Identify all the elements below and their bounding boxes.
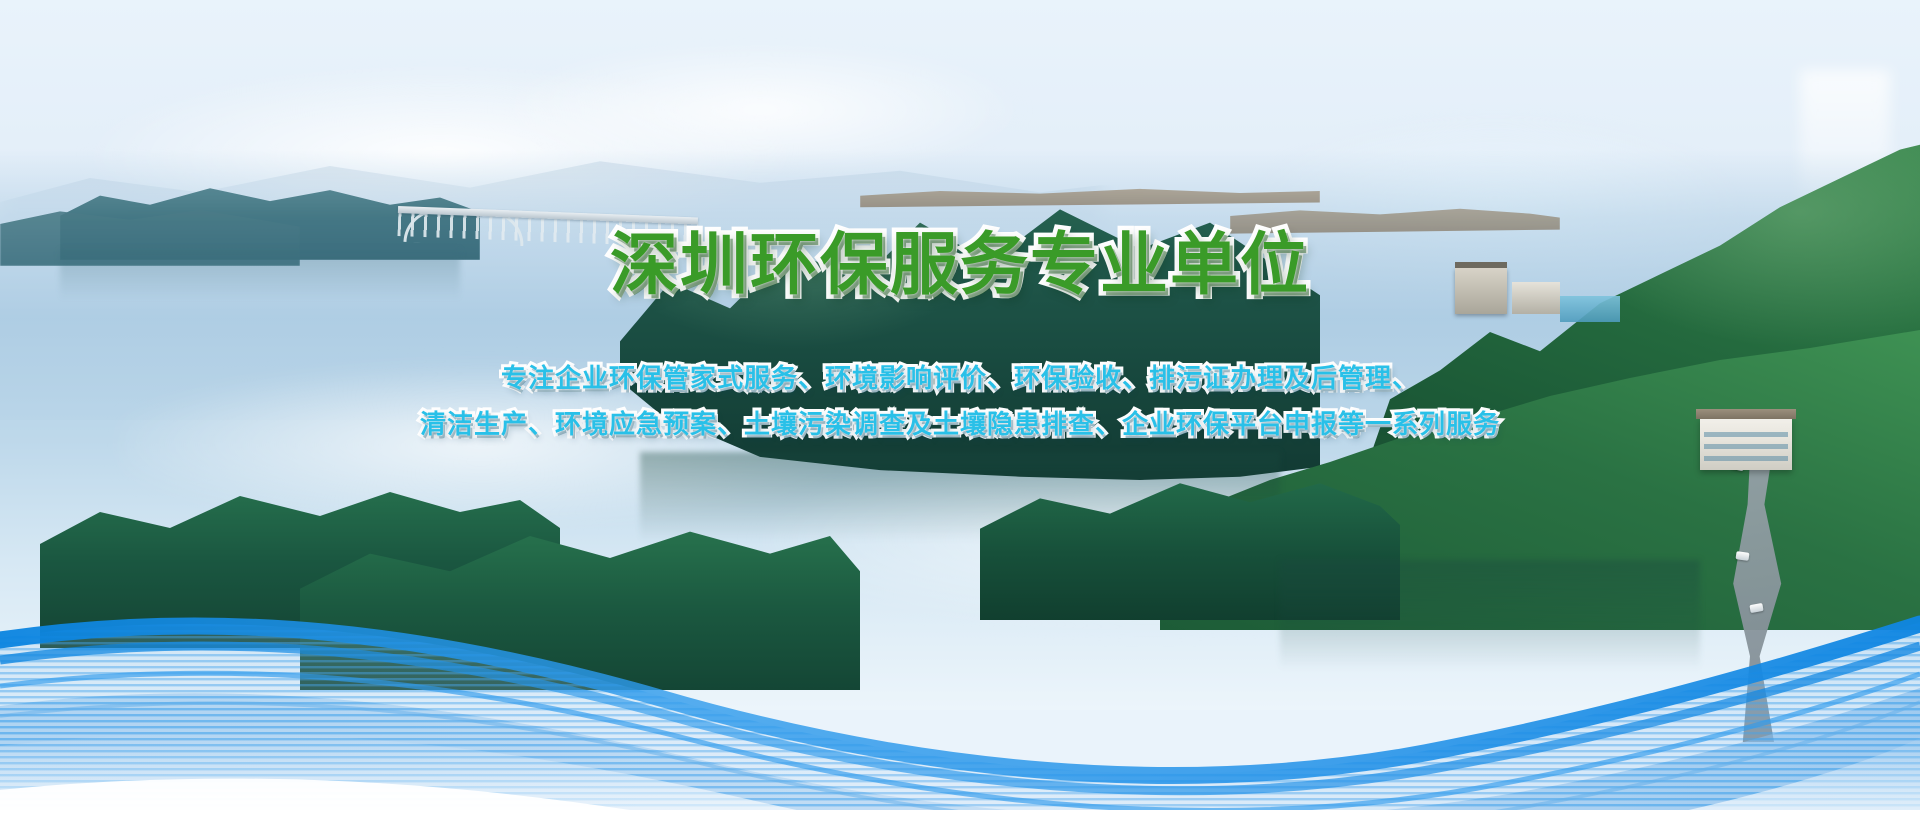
banner-subtitle-line-2: 清洁生产、环境应急预案、土壤污染调查及土壤隐患排查、企业环保平台申报等一系列服务 [0,404,1920,441]
page-title: 深圳环保服务专业单位 [0,228,1920,303]
banner-text-layer: 深圳环保服务专业单位 专注企业环保管家式服务、环境影响评价、环保验收、排污证办理… [0,0,1920,840]
banner-subtitle-line-1: 专注企业环保管家式服务、环境影响评价、环保验收、排污证办理及后管理、 [0,358,1920,395]
hero-banner: 深圳环保服务专业单位 专注企业环保管家式服务、环境影响评价、环保验收、排污证办理… [0,0,1920,840]
